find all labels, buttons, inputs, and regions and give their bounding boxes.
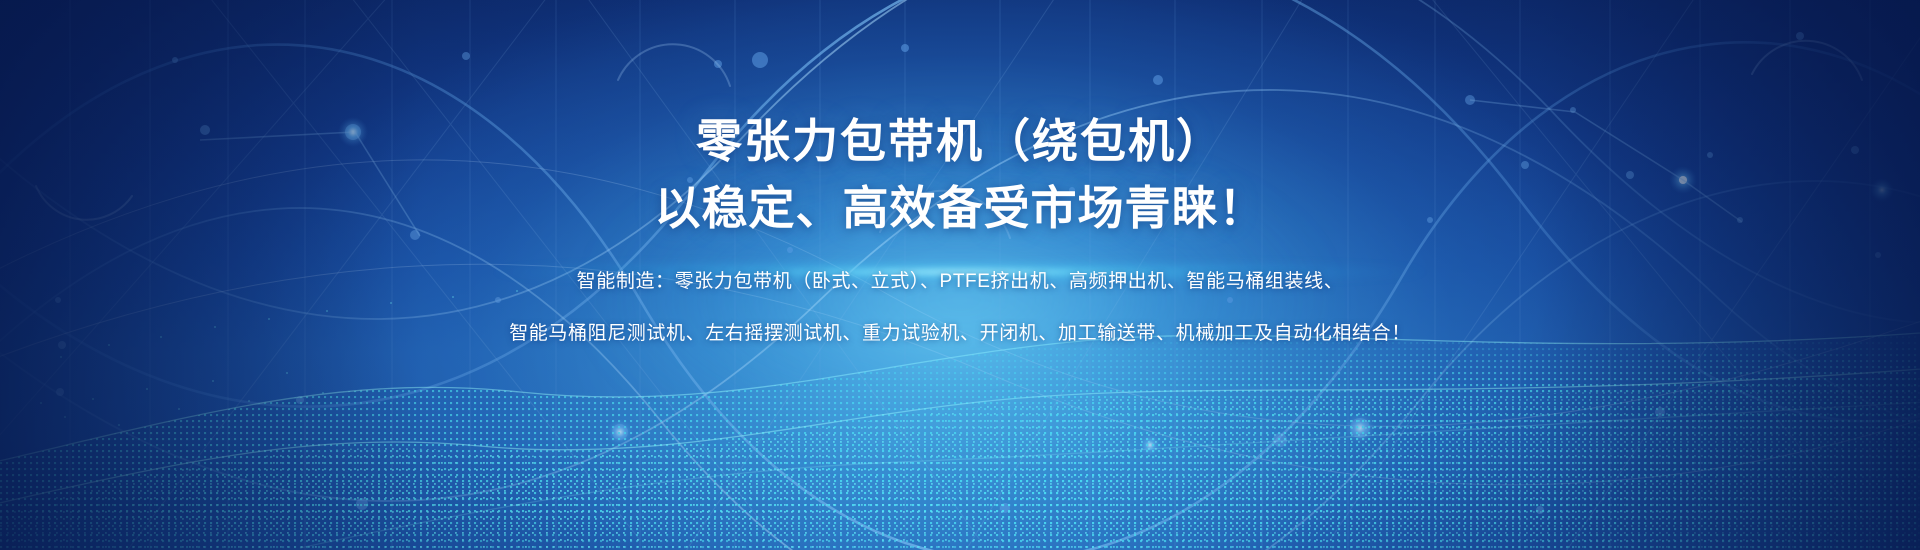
banner-content: 零张力包带机（绕包机） 以稳定、高效备受市场青睐！ 智能制造：零张力包带机（卧式…: [0, 0, 1920, 550]
subtitle-block: 智能制造：零张力包带机（卧式、立式）、PTFE挤出机、高频押出机、智能马桶组装线…: [509, 267, 1411, 348]
subtitle-line-2: 智能马桶阻尼测试机、左右摇摆测试机、重力试验机、开闭机、加工输送带、机械加工及自…: [509, 319, 1411, 348]
headline-line-1: 零张力包带机（绕包机）: [655, 108, 1266, 175]
headline-block: 零张力包带机（绕包机） 以稳定、高效备受市场青睐！: [655, 108, 1266, 241]
headline-line-2: 以稳定、高效备受市场青睐！: [655, 175, 1266, 242]
hero-banner: 零张力包带机（绕包机） 以稳定、高效备受市场青睐！ 智能制造：零张力包带机（卧式…: [0, 0, 1920, 550]
subtitle-line-1: 智能制造：零张力包带机（卧式、立式）、PTFE挤出机、高频押出机、智能马桶组装线…: [509, 267, 1411, 296]
